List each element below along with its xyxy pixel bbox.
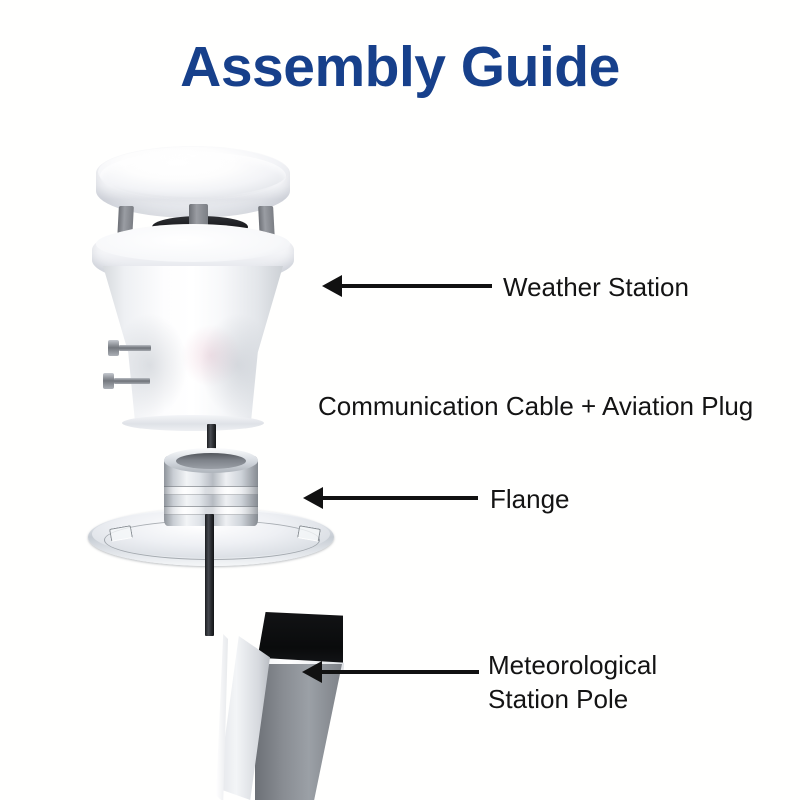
screw-shank bbox=[114, 378, 150, 384]
mounting-screw-upper bbox=[108, 339, 156, 357]
assembly-guide-page: Assembly Guide bbox=[0, 0, 800, 800]
callout-arrow-flange bbox=[303, 487, 478, 509]
arrow-shaft bbox=[320, 496, 478, 500]
callout-arrow-weather-station bbox=[322, 275, 492, 297]
screw-head bbox=[108, 340, 119, 356]
callout-arrow-pole bbox=[302, 661, 480, 683]
callout-label-communication-cable: Communication Cable + Aviation Plug bbox=[318, 389, 753, 423]
weather-station-lower-disc-surface bbox=[96, 226, 290, 262]
meteorological-station-pole bbox=[100, 600, 320, 800]
callout-label-weather-station: Weather Station bbox=[503, 270, 689, 304]
pole-front-face bbox=[255, 664, 342, 800]
weather-station-top-cap-rim bbox=[100, 152, 286, 200]
screw-head bbox=[103, 373, 114, 389]
mounting-screw-lower bbox=[103, 372, 155, 390]
callout-label-pole-line2: Station Pole bbox=[488, 682, 628, 716]
weather-station-body-lip bbox=[122, 415, 264, 431]
arrow-shaft bbox=[339, 284, 492, 288]
callout-label-flange: Flange bbox=[490, 482, 570, 516]
flange-collar-rib-upper bbox=[164, 486, 258, 495]
callout-label-pole-line1: Meteorological bbox=[488, 648, 657, 682]
arrow-shaft bbox=[319, 670, 479, 674]
screw-shank bbox=[119, 345, 151, 351]
flange-collar-bore bbox=[176, 453, 246, 469]
